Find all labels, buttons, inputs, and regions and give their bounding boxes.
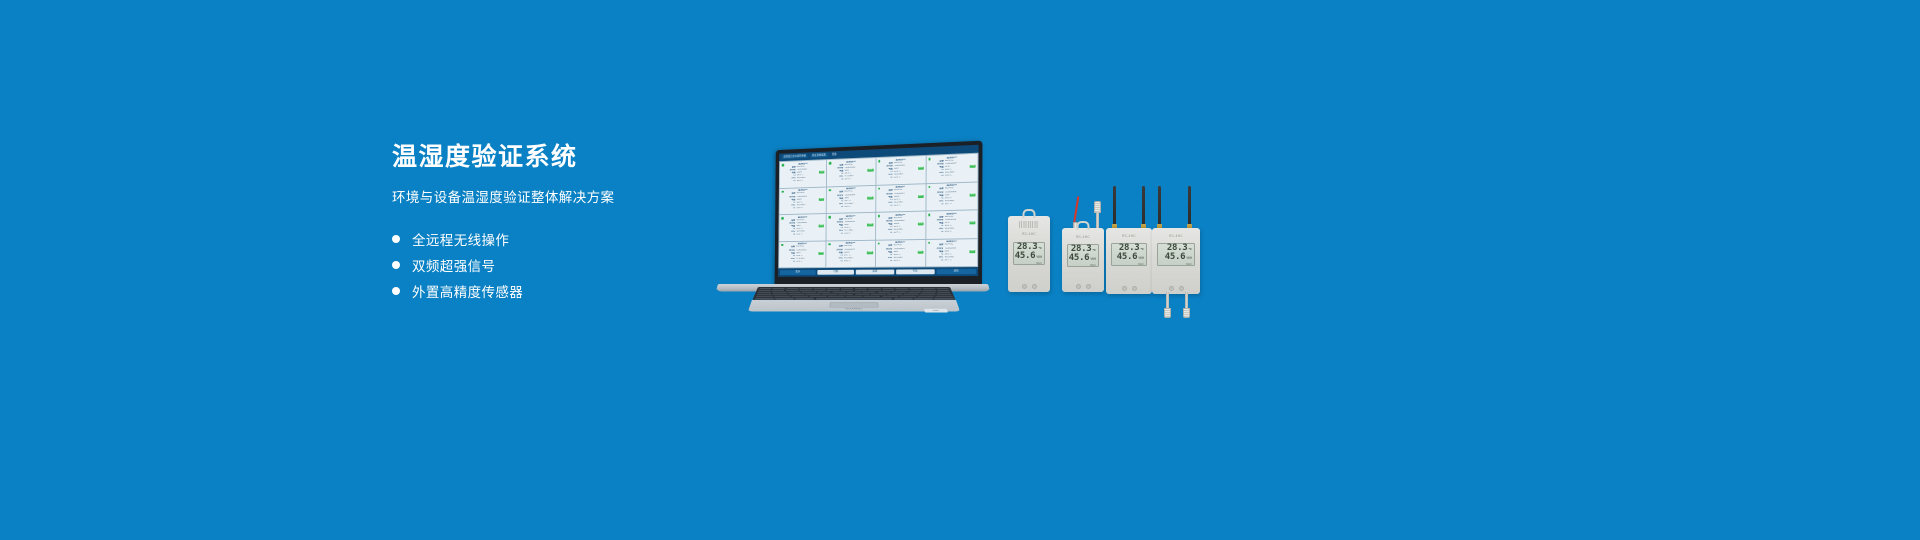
laptop-lid: 温湿度记录仪监控系统 验证系统设置 帮助 监测点01设备RC-4HC序列号T23… xyxy=(775,141,983,288)
monitor-row-value: 25.1℃ xyxy=(796,260,824,263)
antenna-rod xyxy=(1158,186,1161,228)
device-wireless-logger-dual-probe: RC-4HC 28.3 ℃ 45.6 %RH REC xyxy=(1152,228,1200,294)
device-button-right[interactable] xyxy=(1032,284,1037,289)
monitor-card[interactable]: 监测点16设备RC-4HC序列号T23050016电量98%在线T124.6℃R… xyxy=(926,239,977,267)
lcd-temperature-unit: ℃ xyxy=(1188,248,1192,251)
monitor-row-value: 25.4℃ xyxy=(894,232,924,236)
lcd-humidity-unit: %RH xyxy=(1036,256,1042,259)
status-dot-icon xyxy=(828,243,830,245)
device-button-right[interactable] xyxy=(1179,286,1184,291)
lcd-status-label: REC xyxy=(1160,263,1192,266)
lcd-humidity-row: 45.6 %RH xyxy=(1016,252,1042,261)
monitor-card-row: T224.8℃ xyxy=(928,174,975,179)
lcd-status-label: REC xyxy=(1114,263,1144,266)
laptop-sticker-badge: Intel xyxy=(924,309,948,313)
monitor-row-value: 25.5℃ xyxy=(894,204,923,208)
monitor-row-value: 24.7℃ xyxy=(945,202,975,206)
monitor-row-value: 24.9℃ xyxy=(945,231,975,235)
status-dot-icon xyxy=(878,215,880,218)
status-dot-icon xyxy=(877,242,879,245)
monitor-row-label: T2 xyxy=(877,232,893,235)
settings-button[interactable]: 设置 xyxy=(856,269,894,275)
device-hook-icon xyxy=(1023,209,1036,218)
monitor-row-label: T2 xyxy=(782,180,797,183)
monitor-card-row: T225.5℃ xyxy=(878,204,924,208)
device-button-row xyxy=(1106,286,1152,291)
monitor-row-label: T2 xyxy=(781,234,796,237)
monitor-row-value: 25.2℃ xyxy=(797,206,825,210)
monitor-card-row: T225.4℃ xyxy=(877,232,923,236)
antenna-rod-secondary xyxy=(1142,186,1145,228)
device-button-left[interactable] xyxy=(1169,286,1174,291)
lcd-humidity-value: 45.6 xyxy=(1165,253,1185,262)
monitor-row-label: T2 xyxy=(877,260,893,263)
monitor-row-value: 25.0℃ xyxy=(797,179,825,183)
monitor-row-label: T2 xyxy=(928,231,945,234)
lcd-temperature-unit: ℃ xyxy=(1038,247,1042,250)
lcd-status-label: REC xyxy=(1070,264,1096,267)
monitor-row-label: T2 xyxy=(781,207,796,210)
device-vent-icon xyxy=(1019,221,1039,228)
monitor-row-label: T2 xyxy=(928,259,945,262)
lcd-status-label: REC xyxy=(1016,262,1042,265)
monitor-row-label: T2 xyxy=(878,177,894,181)
monitor-card-row: T224.7℃ xyxy=(928,259,975,262)
monitor-card-row: T225.3℃ xyxy=(878,176,924,181)
monitor-row-label: T2 xyxy=(828,233,844,236)
lcd-humidity-row: 45.6 %RH xyxy=(1070,254,1096,263)
device-brand-label: RC-4HC xyxy=(1076,235,1090,239)
device-button-right[interactable] xyxy=(1086,284,1091,289)
device-lcd-display: 28.3 ℃ 45.6 %RH REC xyxy=(1067,244,1099,267)
monitor-card-row: T224.9℃ xyxy=(829,205,873,209)
monitor-card[interactable]: 监测点03设备RC-4HC序列号T23050003电量99%在线T125.2℃R… xyxy=(876,156,926,184)
status-dot-icon xyxy=(781,190,783,192)
monitor-row-label: T2 xyxy=(829,206,845,209)
monitor-card-row: T224.8℃ xyxy=(828,260,872,263)
device-button-row xyxy=(1062,284,1104,289)
device-temp-humidity-logger-probe: RC-4HC 28.3 ℃ 45.6 %RH REC xyxy=(1062,228,1104,292)
monitor-row-value: 24.9℃ xyxy=(844,205,873,209)
monitor-card-row: T225.1℃ xyxy=(781,260,824,263)
lcd-humidity-row: 45.6 %RH xyxy=(1160,253,1192,262)
device-button-row xyxy=(1152,286,1200,291)
monitor-card-row: T224.7℃ xyxy=(928,202,975,206)
monitor-row-label: T2 xyxy=(828,260,844,263)
monitor-card-row: T225.1℃ xyxy=(829,178,873,183)
monitor-row-value: 25.3℃ xyxy=(894,260,924,263)
monitor-card-row: T225.2℃ xyxy=(781,206,824,210)
page-subtitle: 环境与设备温湿度验证整体解决方案 xyxy=(392,189,722,207)
monitor-row-label: T2 xyxy=(928,203,945,206)
device-button-right[interactable] xyxy=(1132,286,1137,291)
laptop-brand-label: HUAWEI xyxy=(845,308,863,310)
device-brand-label: RC-4HC xyxy=(1122,234,1136,238)
tab-settings[interactable]: 验证系统设置 xyxy=(810,153,827,158)
monitor-row-value: 24.8℃ xyxy=(945,174,975,178)
bullet-dot-icon xyxy=(392,235,400,243)
monitor-card[interactable]: 监测点10设备RC-4HC序列号T23050010电量98%在线T124.9℃R… xyxy=(827,213,875,240)
device-button-row xyxy=(1008,284,1050,289)
monitor-card[interactable]: 监测点09设备RC-4HC序列号T23050009电量99%在线T125.1℃R… xyxy=(779,214,826,241)
monitor-card[interactable]: 监测点05设备RC-4HC序列号T23050005电量100%在线T125.0℃… xyxy=(780,187,827,214)
feature-list: 全远程无线操作 双频超强信号 外置高精度传感器 xyxy=(392,227,722,304)
more-button[interactable]: 更多 xyxy=(780,270,816,275)
feature-label: 双频超强信号 xyxy=(412,255,495,275)
lcd-humidity-value: 45.6 xyxy=(1015,252,1035,261)
device-button-left[interactable] xyxy=(1122,286,1127,291)
lcd-humidity-unit: %RH xyxy=(1138,257,1144,260)
device-brand-label: RC-4HC xyxy=(1169,234,1183,238)
export-button[interactable]: 导出 xyxy=(896,269,935,275)
lcd-humidity-value: 45.6 xyxy=(1069,254,1089,263)
monitor-card-row: T225.3℃ xyxy=(877,260,923,263)
monitor-row-value: 24.8℃ xyxy=(844,260,873,263)
device-wireless-logger: RC-4HC 28.3 ℃ 45.6 %RH REC xyxy=(1106,228,1152,294)
monitor-card[interactable]: 监测点12设备RC-4HC序列号T23050012电量97%在线T124.8℃R… xyxy=(926,210,977,238)
monitor-card[interactable]: 监测点07设备RC-4HC序列号T23050007电量100%在线T125.4℃… xyxy=(876,184,926,212)
lcd-temperature-unit: ℃ xyxy=(1140,248,1144,251)
laptop-illustration: 温湿度记录仪监控系统 验证系统设置 帮助 监测点01设备RC-4HC序列号T23… xyxy=(718,140,988,300)
device-lcd-display: 28.3 ℃ 45.6 %RH REC xyxy=(1111,243,1147,266)
laptop-screen: 温湿度记录仪监控系统 验证系统设置 帮助 监测点01设备RC-4HC序列号T23… xyxy=(778,145,978,277)
laptop-keyboard[interactable] xyxy=(752,287,955,300)
status-dot-icon xyxy=(781,217,783,219)
antenna-rod-secondary xyxy=(1188,186,1191,228)
monitor-row-value: 25.2℃ xyxy=(796,233,824,236)
monitor-card[interactable]: 监测点08设备RC-4HC序列号T23050008电量95%在线T124.5℃R… xyxy=(926,182,977,211)
monitor-row-value: 25.1℃ xyxy=(845,178,874,182)
product-banner: 温湿度验证系统 环境与设备温湿度验证整体解决方案 全远程无线操作 双频超强信号 … xyxy=(0,0,1920,540)
monitor-row-label: T2 xyxy=(878,205,894,208)
monitor-row-value: 24.7℃ xyxy=(945,259,976,262)
monitor-card[interactable]: 监测点14设备RC-4HC序列号T23050014电量100%在线T124.7℃… xyxy=(826,240,874,267)
banner-copy: 温湿度验证系统 环境与设备温湿度验证整体解决方案 全远程无线操作 双频超强信号 … xyxy=(392,142,722,305)
monitor-card-grid: 监测点01设备RC-4HC序列号T23050001电量100%在线T124.8℃… xyxy=(778,153,978,269)
monitor-card-row: T224.9℃ xyxy=(928,231,975,235)
laptop-palmrest: HUAWEI Intel xyxy=(748,300,960,311)
lcd-humidity-unit: %RH xyxy=(1090,258,1096,261)
monitor-row-label: T2 xyxy=(781,261,796,264)
antenna-rod xyxy=(1113,186,1116,228)
device-hook-icon xyxy=(1077,221,1090,230)
monitor-row-value: 25.0℃ xyxy=(844,233,873,236)
monitor-card-row: T225.0℃ xyxy=(828,233,872,237)
monitor-card[interactable]: 监测点13设备RC-4HC序列号T23050013电量96%在线T125.0℃R… xyxy=(779,241,826,267)
status-dot-icon xyxy=(829,216,831,219)
device-lcd-display: 28.3 ℃ 45.6 %RH REC xyxy=(1013,242,1045,265)
monitor-card[interactable]: 监测点15设备RC-4HC序列号T23050015电量99%在线T125.2℃R… xyxy=(875,239,925,266)
monitor-card-row: T225.0℃ xyxy=(782,179,825,183)
monitor-card[interactable]: 监测点06设备RC-4HC序列号T23050006电量96%在线T124.7℃R… xyxy=(827,185,875,213)
feature-label: 全远程无线操作 xyxy=(412,229,509,249)
status-dot-icon xyxy=(781,244,783,246)
tab-monitoring[interactable]: 温湿度记录仪监控系统 xyxy=(782,154,808,159)
status-dot-icon xyxy=(829,189,831,192)
device-brand-label: RC-4HC xyxy=(1022,232,1036,236)
monitor-card[interactable]: 监测点11设备RC-4HC序列号T23050011电量100%在线T125.3℃… xyxy=(876,212,926,240)
monitor-card[interactable]: 监测点04设备RC-4HC序列号T23050004电量97%在线T124.6℃R… xyxy=(926,154,977,183)
list-item: 全远程无线操作 xyxy=(392,227,722,252)
bullet-dot-icon xyxy=(392,261,400,269)
status-dot-icon xyxy=(782,164,784,167)
monitor-card[interactable]: 监测点02设备RC-4HC序列号T23050002电量98%在线T124.9℃R… xyxy=(827,158,875,186)
status-dot-icon xyxy=(829,162,831,165)
monitor-row-label: T2 xyxy=(928,175,945,179)
monitor-card-row: T225.2℃ xyxy=(781,233,824,237)
lcd-humidity-unit: %RH xyxy=(1186,257,1192,260)
device-lcd-display: 28.3 ℃ 45.6 %RH REC xyxy=(1157,243,1195,266)
scan-button[interactable]: 扫描 xyxy=(818,269,855,275)
device-button-left[interactable] xyxy=(1076,284,1081,289)
lcd-humidity-row: 45.6 %RH xyxy=(1114,253,1144,262)
dashboard-actionbar: 更多 扫描 设置 导出 退出 xyxy=(778,267,978,277)
list-item: 双频超强信号 xyxy=(392,253,722,278)
tab-help[interactable]: 帮助 xyxy=(830,153,838,158)
exit-button[interactable]: 退出 xyxy=(936,269,976,275)
probe-sensor-cap-right xyxy=(1183,308,1190,318)
feature-label: 外置高精度传感器 xyxy=(412,281,523,301)
lcd-temperature-unit: ℃ xyxy=(1092,249,1096,252)
lcd-humidity-value: 45.6 xyxy=(1117,253,1137,262)
device-temp-humidity-logger: RC-4HC 28.3 ℃ 45.6 %RH REC xyxy=(1008,216,1050,292)
bullet-dot-icon xyxy=(392,287,400,295)
monitor-card[interactable]: 监测点01设备RC-4HC序列号T23050001电量100%在线T124.8℃… xyxy=(780,160,827,188)
monitor-row-label: T2 xyxy=(829,179,845,182)
status-dot-icon xyxy=(878,160,880,163)
monitor-row-value: 25.3℃ xyxy=(894,176,923,180)
list-item: 外置高精度传感器 xyxy=(392,279,722,304)
probe-sensor-cap-left xyxy=(1164,308,1171,318)
device-button-left[interactable] xyxy=(1022,284,1027,289)
page-title: 温湿度验证系统 xyxy=(392,142,722,172)
